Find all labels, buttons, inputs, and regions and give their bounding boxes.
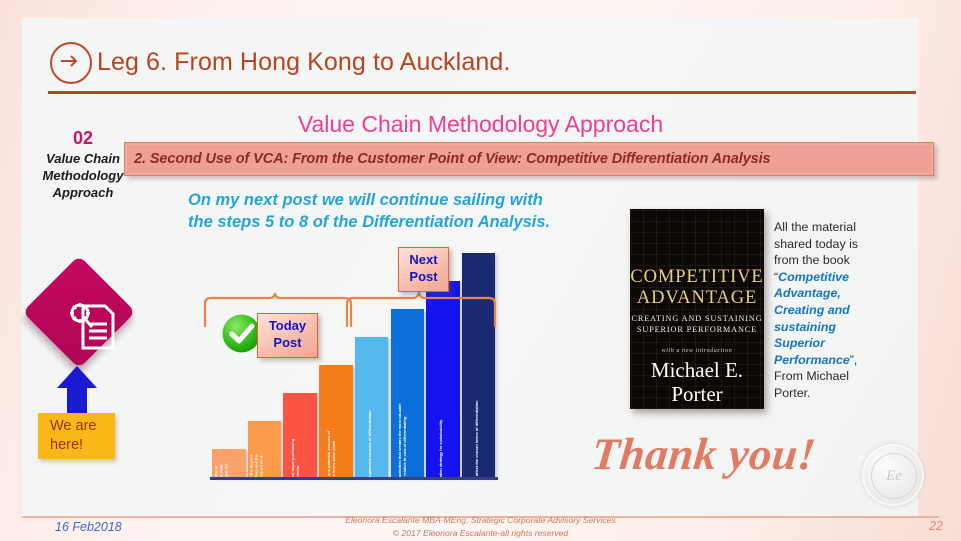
- seal-monogram: Ee: [871, 453, 917, 499]
- chart-bar: Identify the cost of existing and potent…: [355, 337, 389, 477]
- book-intro-note: with a new introduction: [630, 348, 764, 354]
- methodology-diamond-badge: [25, 252, 143, 370]
- book-title: COMPETITIVE ADVANTAGE: [630, 267, 764, 309]
- book-subtitle-line-1: CREATING AND SUSTAINING: [631, 314, 762, 323]
- next-post-note: On my next post we will continue sailing…: [188, 189, 608, 233]
- chart-bar-label: Reduce cost in activities that do not af…: [474, 365, 479, 477]
- book-title-line-1: COMPETITIVE: [630, 267, 763, 287]
- chart-bar-label: Identify the buyer's value chain and the…: [249, 449, 264, 477]
- chart-bar: Reduce cost in activities that do not af…: [462, 253, 496, 477]
- rail-label-line-2: Methodology: [0, 167, 166, 184]
- arrow-right-circle-icon: [50, 42, 92, 84]
- chart-bar: Identify the buyer's value chain and the…: [248, 421, 282, 477]
- chart-bar: Who is the Real Buyer is?: [212, 449, 246, 477]
- rail-label-line-3: Approach: [0, 184, 166, 201]
- title-divider: [48, 91, 916, 94]
- chart-baseline: [210, 477, 498, 480]
- we-are-here-line-2: here!: [44, 437, 83, 453]
- rail-label-line-1: Value Chain: [0, 150, 166, 167]
- section-banner-text: 2. Second Use of VCA: From the Customer …: [125, 151, 771, 167]
- chart-bar: Assess the existing and potential source…: [319, 365, 353, 477]
- source-note-pre: All the material shared today is from th…: [774, 220, 858, 267]
- we-are-here-line-1: We are: [44, 418, 96, 434]
- next-post-note-line-1: On my next post we will continue sailing…: [188, 189, 608, 211]
- chart-bar: Choose the configuration of value activi…: [391, 309, 425, 477]
- we-are-here-callout: We are here!: [38, 413, 115, 459]
- we-are-here-label: We are here!: [38, 417, 96, 455]
- next-post-note-line-2: the steps 5 to 8 of the Differentiation …: [188, 211, 608, 233]
- footer-credit: Eleonora Escalante MBA-MEng, Strategic C…: [0, 514, 961, 540]
- book-author-line-2: Porter: [671, 382, 722, 406]
- footer-page-number: 22: [929, 519, 943, 533]
- arrow-up-icon: [55, 364, 99, 416]
- chart-bar: Determine ranked buyer purchasing criter…: [283, 393, 317, 477]
- book-subtitle-line-2: SUPERIOR PERFORMANCE: [637, 325, 757, 334]
- differentiation-steps-bar-chart: Who is the Real Buyer is?Identify the bu…: [203, 245, 503, 480]
- today-post-callout: Today Post: [257, 313, 318, 358]
- wax-seal-icon: Ee: [862, 444, 924, 506]
- chart-bar-label: Test the chosen differentiation strategy…: [438, 379, 443, 477]
- chart-bar-label: Identify the cost of existing and potent…: [366, 407, 371, 477]
- chart-bar-label: Who is the Real Buyer is?: [213, 463, 228, 477]
- next-post-line-1: Next: [409, 252, 437, 267]
- section-banner: 2. Second Use of VCA: From the Customer …: [124, 142, 934, 176]
- footer-credit-line-2: © 2017 Eleonora Escalante-all rights res…: [0, 527, 961, 540]
- next-post-callout: Next Post: [398, 247, 449, 292]
- chart-bar-label: Choose the configuration of value activi…: [397, 393, 407, 477]
- today-post-line-1: Today: [269, 318, 306, 333]
- footer-credit-line-1: Eleonora Escalante MBA-MEng, Strategic C…: [0, 514, 961, 527]
- book-cover-image: COMPETITIVE ADVANTAGE CREATING AND SUSTA…: [630, 209, 764, 409]
- slide-canvas: Leg 6. From Hong Kong to Auckland. Value…: [0, 0, 961, 541]
- document-search-icon: [65, 298, 119, 354]
- page-title: Leg 6. From Hong Kong to Auckland.: [97, 48, 510, 77]
- green-check-circle-icon: [221, 313, 262, 354]
- thank-you-text: Thank you!: [589, 428, 818, 480]
- source-note: All the material shared today is from th…: [774, 219, 878, 402]
- source-note-highlight: Competitive Advantage, Creating and sust…: [774, 270, 850, 367]
- book-author-line-1: Michael E.: [651, 358, 743, 382]
- rail-label: Value Chain Methodology Approach: [0, 150, 166, 201]
- chart-bar-label: Determine ranked buyer purchasing criter…: [290, 435, 300, 477]
- next-post-line-2: Post: [409, 269, 437, 284]
- chart-bar-label: Assess the existing and potential source…: [326, 421, 336, 477]
- rail-number: 02: [0, 128, 166, 149]
- book-author: Michael E. Porter: [630, 358, 764, 406]
- book-subtitle: CREATING AND SUSTAINING SUPERIOR PERFORM…: [630, 313, 764, 335]
- book-title-line-2: ADVANTAGE: [637, 288, 757, 308]
- next-post-bracket: [345, 288, 497, 328]
- today-post-line-2: Post: [273, 335, 301, 350]
